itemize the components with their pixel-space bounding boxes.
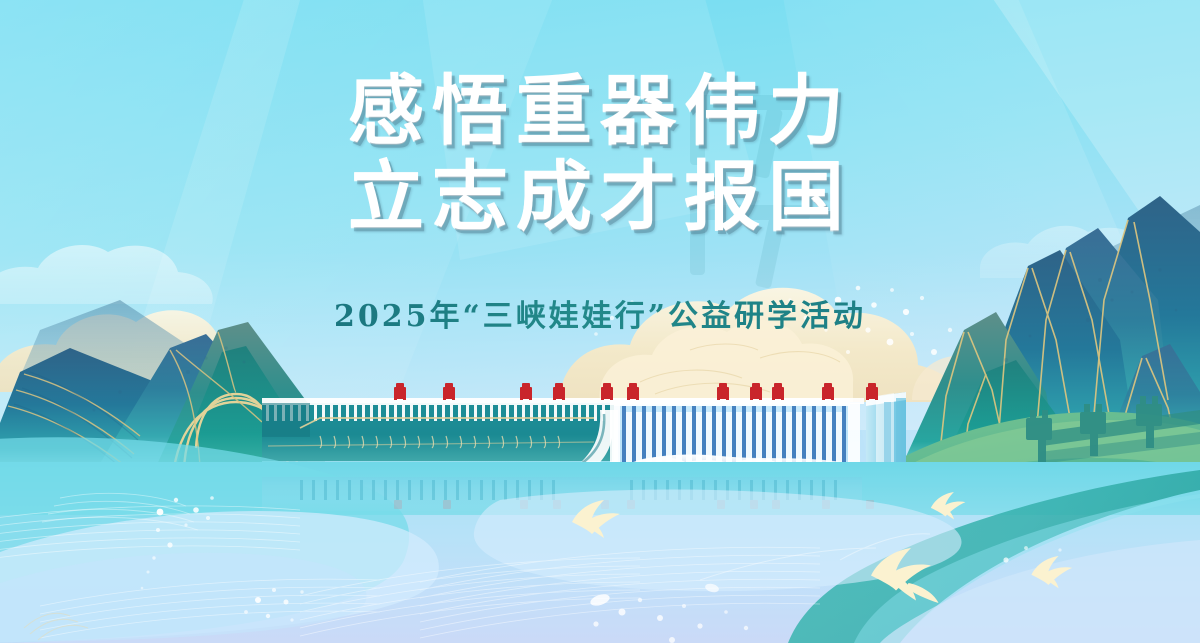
birds-layer bbox=[0, 0, 1200, 643]
swallow-icon-group bbox=[572, 492, 1072, 603]
poster-canvas: 感悟重器伟力 立志成才报国 2025年“三峡娃娃行”公益研学活动 bbox=[0, 0, 1200, 643]
